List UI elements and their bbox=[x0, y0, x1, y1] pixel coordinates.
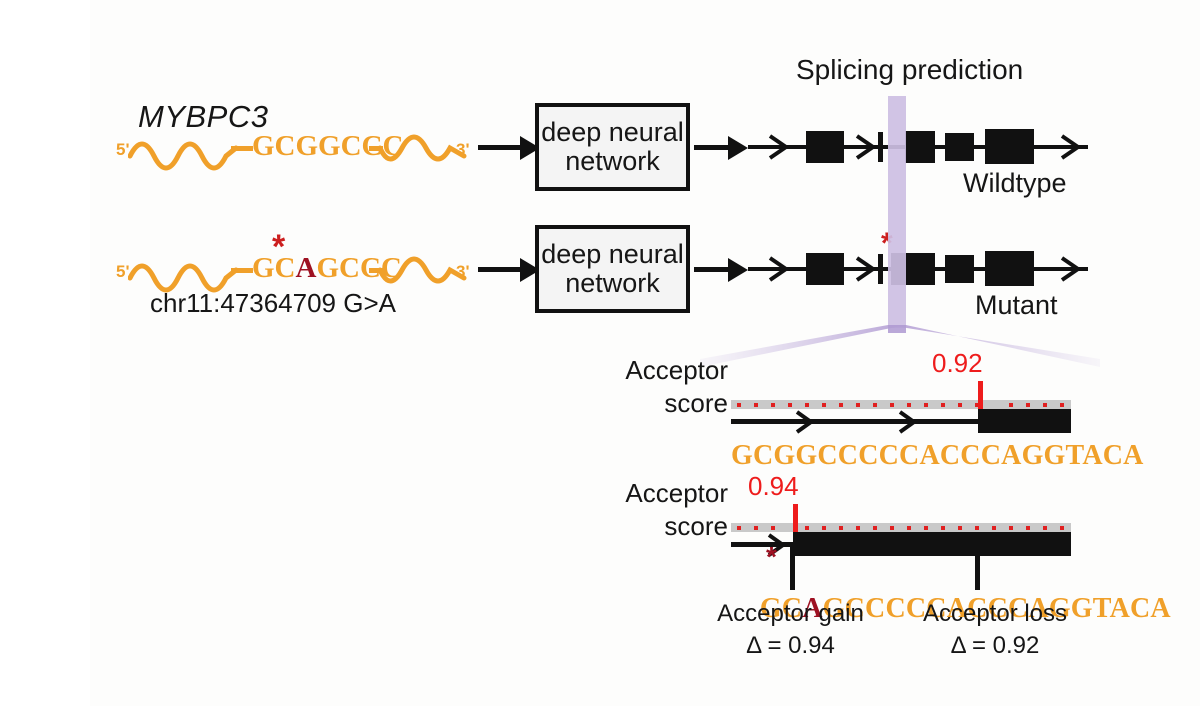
score-dot bbox=[754, 526, 758, 530]
acceptor-gain-marker bbox=[790, 546, 795, 590]
mutant-track-label: Mutant bbox=[975, 290, 1058, 321]
nn-box-line1-wildtype: deep neural bbox=[541, 118, 684, 147]
deep-neural-network-box-mutant: deep neural network bbox=[535, 225, 690, 313]
wildtype-rna-wave-left bbox=[128, 126, 238, 171]
score-dot bbox=[941, 526, 945, 530]
wildtype-three-prime-label: 3' bbox=[456, 140, 470, 160]
score-dot bbox=[992, 526, 996, 530]
score-dot bbox=[941, 403, 945, 407]
wildtype-zoom-strand-arrow-1 bbox=[795, 410, 815, 434]
wildtype-strand-arrow-3 bbox=[1060, 134, 1082, 160]
score-dot bbox=[1060, 526, 1064, 530]
wildtype-score-label-line1: Acceptor bbox=[618, 355, 728, 386]
wildtype-score-spike bbox=[978, 381, 983, 409]
score-dot bbox=[890, 526, 894, 530]
score-dot bbox=[822, 403, 826, 407]
nn-box-line2-wildtype: network bbox=[541, 147, 684, 176]
mutant-score-spike bbox=[793, 504, 798, 532]
wildtype-exon-2 bbox=[905, 131, 935, 163]
mutant-strand-arrow-1 bbox=[768, 256, 790, 282]
score-dot bbox=[771, 526, 775, 530]
mutant-score-value: 0.94 bbox=[748, 471, 799, 502]
score-dot bbox=[1043, 403, 1047, 407]
score-dot bbox=[822, 526, 826, 530]
score-dot bbox=[1009, 526, 1013, 530]
score-dot bbox=[873, 403, 877, 407]
mutant-exon-3 bbox=[945, 255, 974, 283]
score-dot bbox=[805, 526, 809, 530]
mutant-arrow-shaft bbox=[478, 267, 526, 272]
score-dot bbox=[839, 403, 843, 407]
score-dot bbox=[788, 403, 792, 407]
score-dot bbox=[856, 526, 860, 530]
score-dot bbox=[958, 526, 962, 530]
wildtype-rna-connector-left bbox=[231, 146, 253, 151]
page-title: Splicing prediction bbox=[796, 54, 1023, 86]
mutant-strand-arrow-2 bbox=[855, 256, 877, 282]
score-dot bbox=[1060, 403, 1064, 407]
wildtype-track-label: Wildtype bbox=[963, 168, 1067, 199]
deep-neural-network-box-wildtype: deep neural network bbox=[535, 103, 690, 191]
wildtype-output-arrow-head bbox=[728, 135, 750, 161]
mutant-output-arrow-head bbox=[728, 257, 750, 283]
score-dot bbox=[737, 526, 741, 530]
mutant-rna-connector-left bbox=[231, 268, 253, 273]
nn-box-line2-mutant: network bbox=[541, 269, 684, 298]
mutant-zoom-intron-line bbox=[731, 542, 799, 547]
wildtype-strand-arrow-1 bbox=[768, 134, 790, 160]
score-dot bbox=[1026, 403, 1030, 407]
wildtype-zoom-intron-line bbox=[731, 419, 983, 424]
highlight-band bbox=[888, 96, 906, 328]
acceptor-gain-label: Acceptor gain bbox=[688, 600, 893, 628]
mutant-score-label-line1: Acceptor bbox=[618, 478, 728, 509]
mutant-exon-4 bbox=[985, 251, 1034, 286]
wildtype-zoom-exon bbox=[978, 409, 1071, 433]
wildtype-zoom-sequence: GCGGCCCCCACCCAGGTACA bbox=[731, 440, 1144, 472]
nn-box-line1-mutant: deep neural bbox=[541, 240, 684, 269]
mutant-seq-before: GC bbox=[252, 252, 296, 284]
wildtype-strand-arrow-2 bbox=[855, 134, 877, 160]
wildtype-zoom-strand-arrow-2 bbox=[898, 410, 918, 434]
splicing-prediction-figure: Splicing prediction MYBPC3 5' GCGGCCC 3'… bbox=[0, 0, 1200, 706]
mutant-three-prime-label: 3' bbox=[456, 262, 470, 282]
wildtype-exon-1 bbox=[806, 131, 844, 163]
score-dot bbox=[839, 526, 843, 530]
score-dot bbox=[975, 526, 979, 530]
score-dot bbox=[958, 403, 962, 407]
acceptor-gain-delta: Δ = 0.94 bbox=[688, 632, 893, 660]
score-dot bbox=[924, 526, 928, 530]
score-dot bbox=[873, 526, 877, 530]
acceptor-loss-marker bbox=[975, 546, 980, 590]
score-dot bbox=[907, 526, 911, 530]
score-dot bbox=[737, 403, 741, 407]
wildtype-exon-tick bbox=[878, 132, 883, 162]
mutant-strand-arrow-3 bbox=[1060, 256, 1082, 282]
wildtype-exon-4 bbox=[985, 129, 1034, 164]
score-dot bbox=[907, 403, 911, 407]
variant-coordinate-label: chr11:47364709 G>A bbox=[150, 288, 396, 319]
wildtype-score-label-line2: score bbox=[618, 388, 728, 419]
score-dot bbox=[1043, 526, 1047, 530]
score-dot bbox=[754, 403, 758, 407]
score-dot bbox=[1026, 526, 1030, 530]
mutant-score-baseline bbox=[731, 523, 1071, 532]
score-dot bbox=[805, 403, 809, 407]
acceptor-loss-label: Acceptor loss bbox=[900, 600, 1090, 628]
mutant-exon-1 bbox=[806, 253, 844, 285]
acceptor-loss-delta: Δ = 0.92 bbox=[900, 632, 1090, 660]
wildtype-exon-3 bbox=[945, 133, 974, 161]
mutant-seq-variant-base: A bbox=[296, 252, 317, 284]
score-dot bbox=[890, 403, 894, 407]
mutant-rna-wave-left bbox=[128, 248, 238, 293]
wildtype-score-baseline bbox=[731, 400, 1071, 409]
wildtype-score-value: 0.92 bbox=[932, 348, 983, 379]
wildtype-arrow-shaft bbox=[478, 145, 526, 150]
score-dot bbox=[771, 403, 775, 407]
score-dot bbox=[1009, 403, 1013, 407]
score-dot bbox=[924, 403, 928, 407]
mutant-zoom-exon-extended bbox=[793, 532, 1071, 556]
mutant-score-label-line2: score bbox=[618, 511, 728, 542]
score-dot bbox=[856, 403, 860, 407]
